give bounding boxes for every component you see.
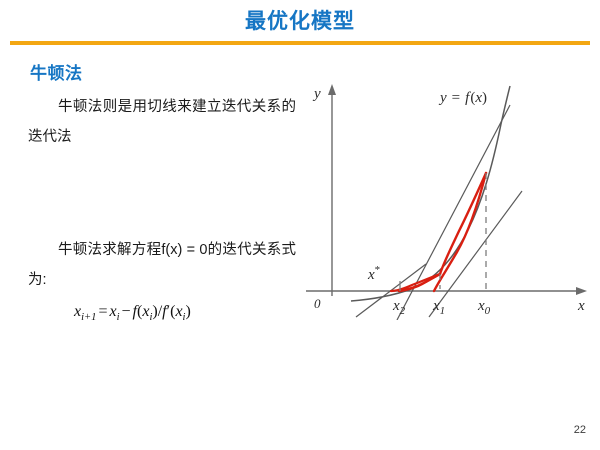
page-title: 最优化模型 [0, 8, 600, 36]
y-axis [328, 84, 336, 296]
curve-label: y=f(x) [438, 90, 487, 106]
svg-text:y=f(x): y=f(x) [438, 90, 487, 106]
svg-text:x1: x1 [432, 298, 445, 317]
newton-method-figure: y x 0 y=f(x) x* x2 [296, 78, 596, 320]
y-axis-label: y [312, 86, 321, 102]
x-tick-x2-sub: 2 [400, 305, 406, 317]
formula-close-paren-2: ) [185, 303, 190, 320]
newton-step-highlight-chord-left [391, 274, 440, 291]
newton-step-highlight-x0 [440, 173, 486, 274]
x-tick-label-x2: x2 [392, 298, 406, 317]
x-axis-label: x [577, 298, 585, 314]
root-label-superscript: * [375, 264, 381, 276]
newton-iteration-formula: xi+1=xi−f(xi)/f′(xi) [74, 303, 191, 323]
title-divider [10, 41, 590, 45]
page-number: 22 [574, 424, 586, 436]
curve-label-equals: = [452, 90, 460, 106]
x-tick-label-x1: x1 [432, 298, 445, 317]
formula-arg2-base: x [175, 303, 182, 320]
figure-svg: y x 0 y=f(x) x* x2 [296, 78, 596, 320]
formula-equals: = [96, 303, 109, 320]
paragraph-intro: 牛顿法则是用切线来建立迭代关系的迭代法 [28, 92, 296, 152]
paragraph-iteration: 牛顿法求解方程f(x) = 0的迭代关系式为: [28, 235, 296, 295]
x-tick-label-x0: x0 [477, 298, 491, 317]
formula-term1-base: x [109, 303, 116, 320]
section-heading: 牛顿法 [30, 59, 83, 84]
curve-label-close: ) [482, 90, 487, 106]
svg-text:x0: x0 [477, 298, 491, 317]
origin-label: 0 [314, 296, 321, 311]
formula-minus: − [120, 303, 133, 320]
x-tick-x0-sub: 0 [485, 305, 491, 317]
svg-text:x2: x2 [392, 298, 406, 317]
curve-label-y: y [438, 90, 447, 106]
root-label: x* [367, 264, 380, 283]
x-tick-x1-sub: 1 [440, 305, 446, 317]
svg-text:x*: x* [367, 264, 380, 283]
formula-lhs-sub: i+1 [81, 312, 96, 323]
slide-canvas: 最优化模型 牛顿法 牛顿法则是用切线来建立迭代关系的迭代法 牛顿法求解方程f(x… [0, 0, 600, 450]
